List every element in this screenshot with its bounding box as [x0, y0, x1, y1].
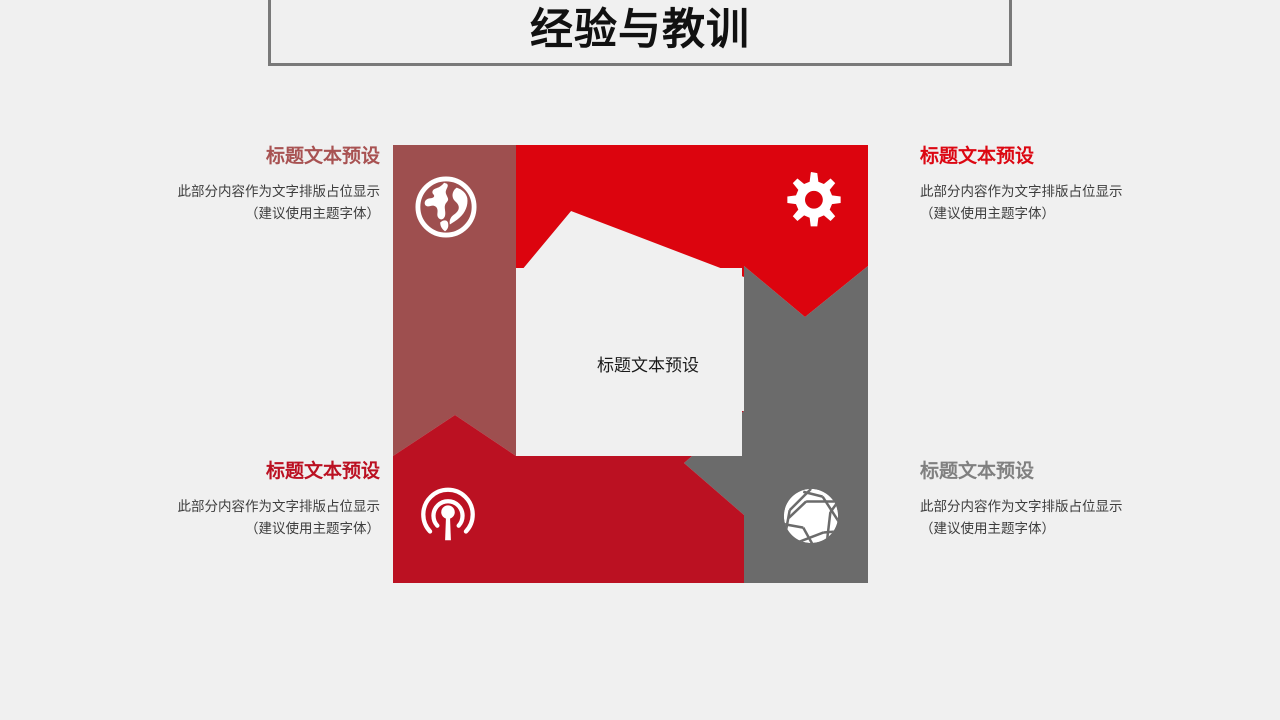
heading-bottom-right: 标题文本预设	[920, 461, 1160, 484]
center-card-label: 标题文本预设	[597, 355, 699, 377]
text-block-top-right: 标题文本预设 此部分内容作为文字排版占位显示 （建议使用主题字体）	[920, 146, 1160, 225]
body-line-1: 此部分内容作为文字排版占位显示	[178, 184, 381, 199]
body-line-1: 此部分内容作为文字排版占位显示	[920, 499, 1123, 514]
heading-bottom-left: 标题文本预设	[140, 461, 380, 484]
body-line-1: 此部分内容作为文字排版占位显示	[178, 499, 381, 514]
broadcast-icon	[417, 485, 479, 547]
body-top-right: 此部分内容作为文字排版占位显示 （建议使用主题字体）	[920, 181, 1160, 226]
body-line-1: 此部分内容作为文字排版占位显示	[920, 184, 1123, 199]
aperture-icon	[780, 485, 842, 547]
body-top-left: 此部分内容作为文字排版占位显示 （建议使用主题字体）	[140, 181, 380, 226]
slide-title-box: 经验与教训	[268, 0, 1012, 66]
body-line-2: （建议使用主题字体）	[920, 206, 1055, 221]
text-block-top-left: 标题文本预设 此部分内容作为文字排版占位显示 （建议使用主题字体）	[140, 146, 380, 225]
body-bottom-right: 此部分内容作为文字排版占位显示 （建议使用主题字体）	[920, 496, 1160, 541]
body-bottom-left: 此部分内容作为文字排版占位显示 （建议使用主题字体）	[140, 496, 380, 541]
heading-top-right: 标题文本预设	[920, 146, 1160, 169]
gear-icon	[780, 170, 842, 232]
body-line-2: （建议使用主题字体）	[920, 521, 1055, 536]
page-title: 经验与教训	[530, 9, 750, 52]
text-block-bottom-right: 标题文本预设 此部分内容作为文字排版占位显示 （建议使用主题字体）	[920, 461, 1160, 540]
heading-top-left: 标题文本预设	[140, 146, 380, 169]
text-block-bottom-left: 标题文本预设 此部分内容作为文字排版占位显示 （建议使用主题字体）	[140, 461, 380, 540]
center-card: 标题文本预设	[516, 268, 742, 456]
body-line-2: （建议使用主题字体）	[245, 206, 380, 221]
globe-icon	[415, 176, 477, 238]
body-line-2: （建议使用主题字体）	[245, 521, 380, 536]
